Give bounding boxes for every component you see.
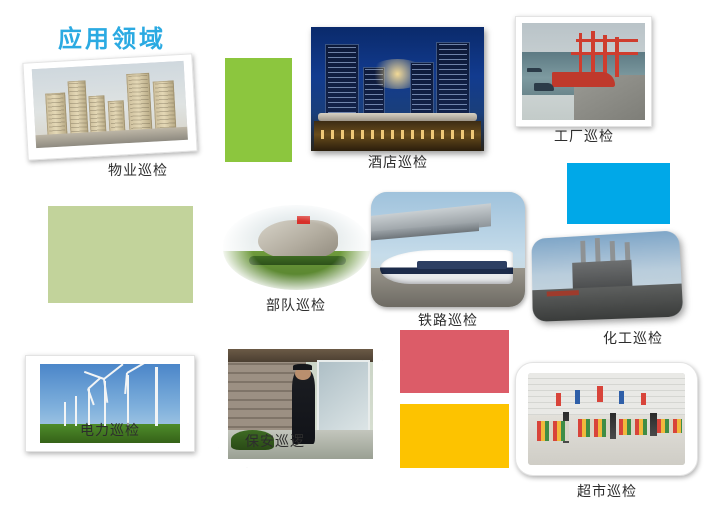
green-placeholder-block — [225, 58, 292, 162]
supermarket-aisles-photo — [528, 373, 685, 465]
chemical-plant-photo — [531, 230, 683, 322]
amber-placeholder-block — [400, 404, 509, 468]
page-title: 应用领域 — [58, 19, 166, 54]
port-cranes-photo — [522, 23, 645, 120]
caption-factory: 工厂巡检 — [534, 126, 634, 146]
rose-placeholder-block — [400, 330, 509, 393]
caption-chemical: 化工巡检 — [583, 328, 683, 348]
pale-green-placeholder-block — [48, 206, 193, 303]
card-property[interactable] — [22, 53, 197, 160]
card-factory[interactable] — [515, 16, 652, 127]
bullet-train-photo — [371, 192, 525, 307]
caption-power: 电力巡检 — [60, 420, 160, 440]
military-monument-photo — [223, 205, 370, 290]
caption-property: 物业巡检 — [88, 160, 188, 180]
residential-towers-photo — [32, 61, 188, 148]
card-military[interactable] — [223, 205, 370, 290]
caption-hotel: 酒店巡检 — [348, 152, 448, 172]
card-railway[interactable] — [371, 192, 525, 307]
application-areas-slide: 应用领域 物业巡检 — [0, 0, 707, 506]
caption-military: 部队巡检 — [246, 295, 346, 315]
caption-railway: 铁路巡检 — [398, 310, 498, 330]
card-hotel[interactable] — [311, 27, 484, 151]
hotel-night-photo — [311, 27, 484, 151]
caption-supermarket: 超市巡检 — [557, 481, 657, 501]
card-supermarket[interactable] — [515, 362, 698, 476]
cyan-placeholder-block — [567, 163, 670, 224]
caption-security: 保安巡逻 — [225, 431, 325, 451]
card-chemical[interactable] — [531, 230, 683, 322]
